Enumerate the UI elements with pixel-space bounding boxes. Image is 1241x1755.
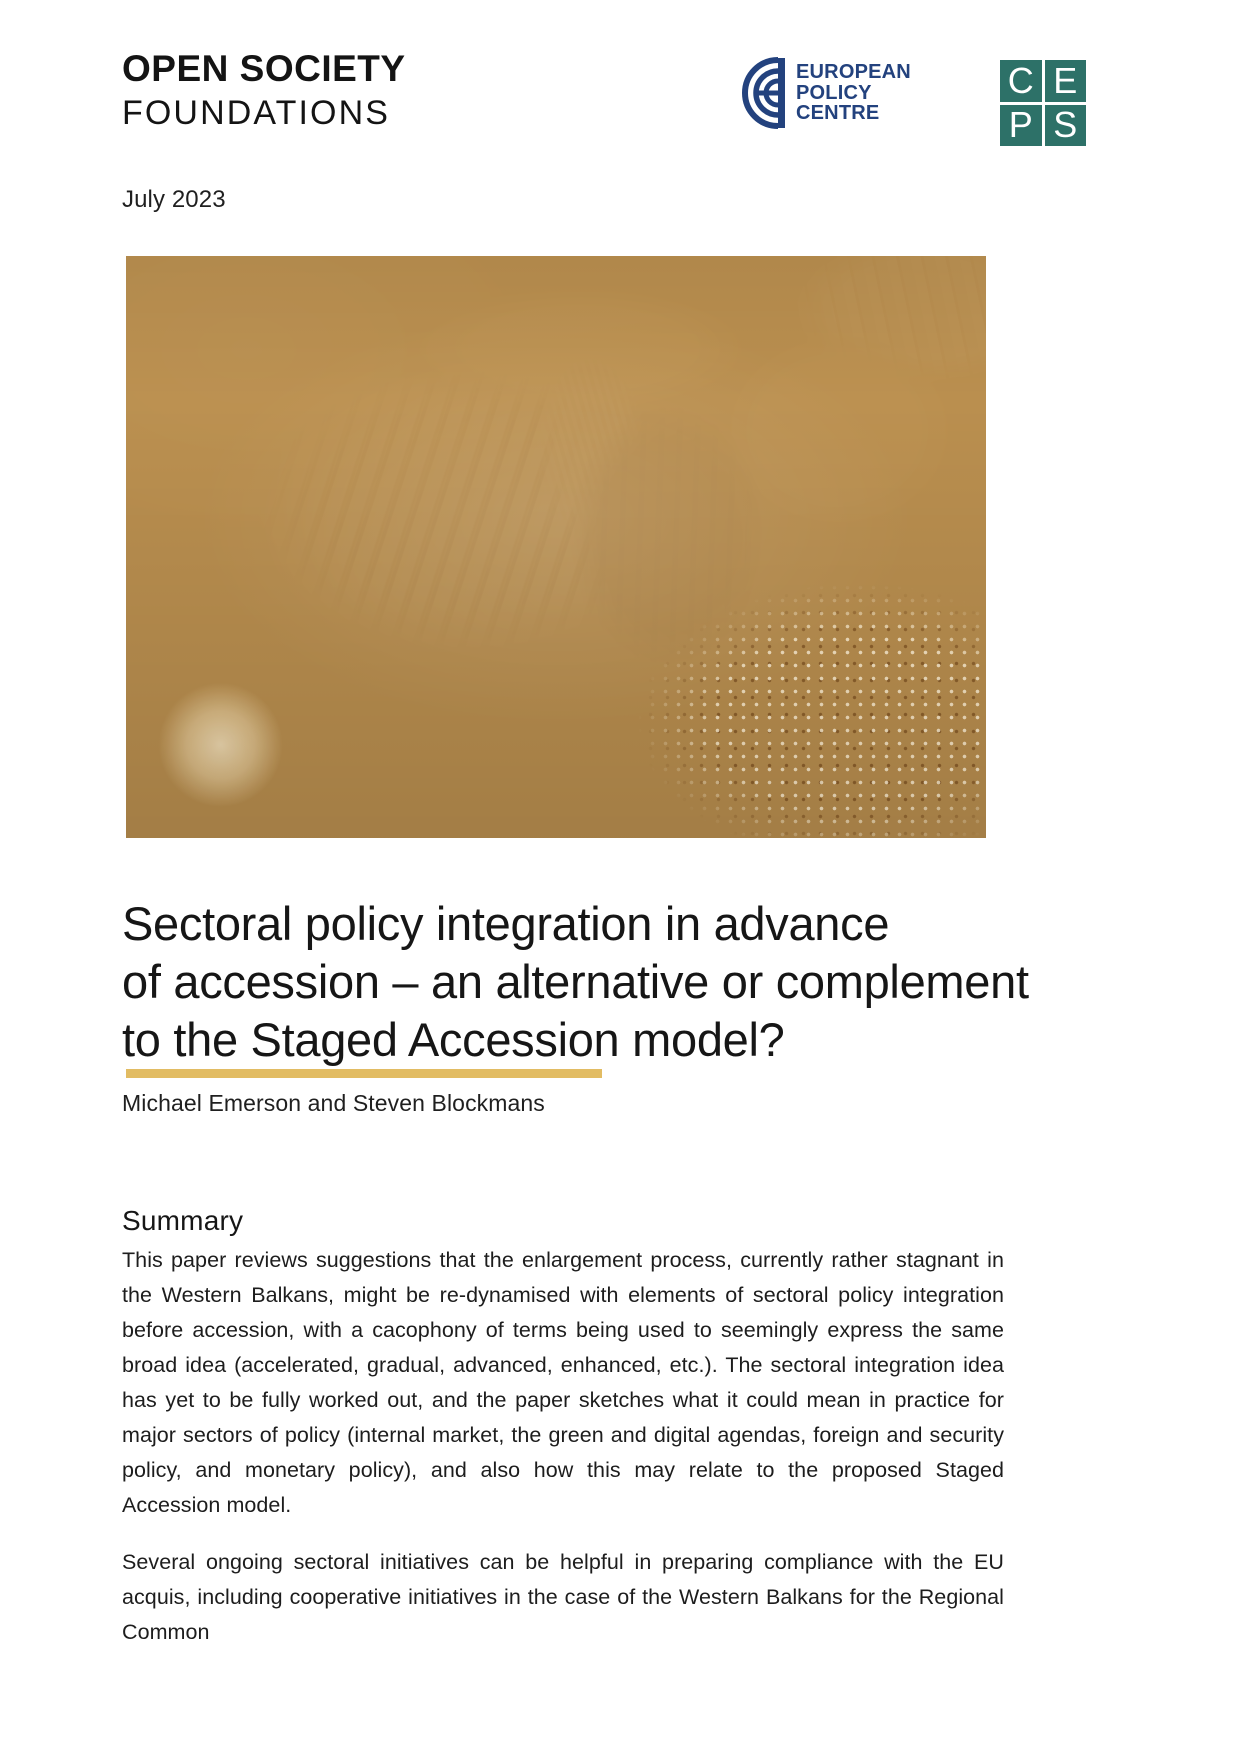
cover-photo-shading — [126, 256, 986, 838]
page-title-line-3: to the Staged Accession model? — [122, 1011, 1022, 1069]
cover-photo — [126, 256, 986, 838]
epc-arcs-icon — [728, 56, 790, 130]
page-title-line-2: of accession – an alternative or complem… — [122, 953, 1022, 1011]
epc-logo-line-2: POLICY — [796, 83, 911, 103]
ceps-logo: C E P S — [1000, 60, 1086, 146]
summary-paragraph: This paper reviews suggestions that the … — [122, 1243, 1004, 1523]
summary-body: This paper reviews suggestions that the … — [122, 1243, 1004, 1650]
summary-paragraph: Several ongoing sectoral initiatives can… — [122, 1545, 1004, 1650]
epc-logo-line-1: EUROPEAN — [796, 62, 911, 82]
epc-logo-text: EUROPEAN POLICY CENTRE — [796, 62, 911, 123]
open-society-foundations-logo: OPEN SOCIETY FOUNDATIONS — [122, 50, 406, 130]
page-title: Sectoral policy integration in advance o… — [122, 895, 1022, 1069]
osf-logo-line-1: OPEN SOCIETY — [122, 50, 406, 87]
european-policy-centre-logo: EUROPEAN POLICY CENTRE — [728, 56, 911, 130]
page-title-line-1: Sectoral policy integration in advance — [122, 895, 1022, 953]
ceps-letter-e: E — [1045, 60, 1087, 102]
publication-date: July 2023 — [122, 186, 226, 214]
title-divider — [126, 1069, 602, 1078]
ceps-letter-c: C — [1000, 60, 1042, 102]
ceps-letter-p: P — [1000, 105, 1042, 147]
epc-logo-line-3: CENTRE — [796, 103, 911, 123]
authors-line: Michael Emerson and Steven Blockmans — [122, 1090, 545, 1117]
document-page: OPEN SOCIETY FOUNDATIONS EUROPEAN POLICY… — [0, 0, 1241, 1755]
ceps-letter-s: S — [1045, 105, 1087, 147]
page-header: OPEN SOCIETY FOUNDATIONS EUROPEAN POLICY… — [0, 38, 1241, 158]
osf-logo-line-2: FOUNDATIONS — [122, 96, 406, 130]
summary-heading: Summary — [122, 1205, 243, 1237]
